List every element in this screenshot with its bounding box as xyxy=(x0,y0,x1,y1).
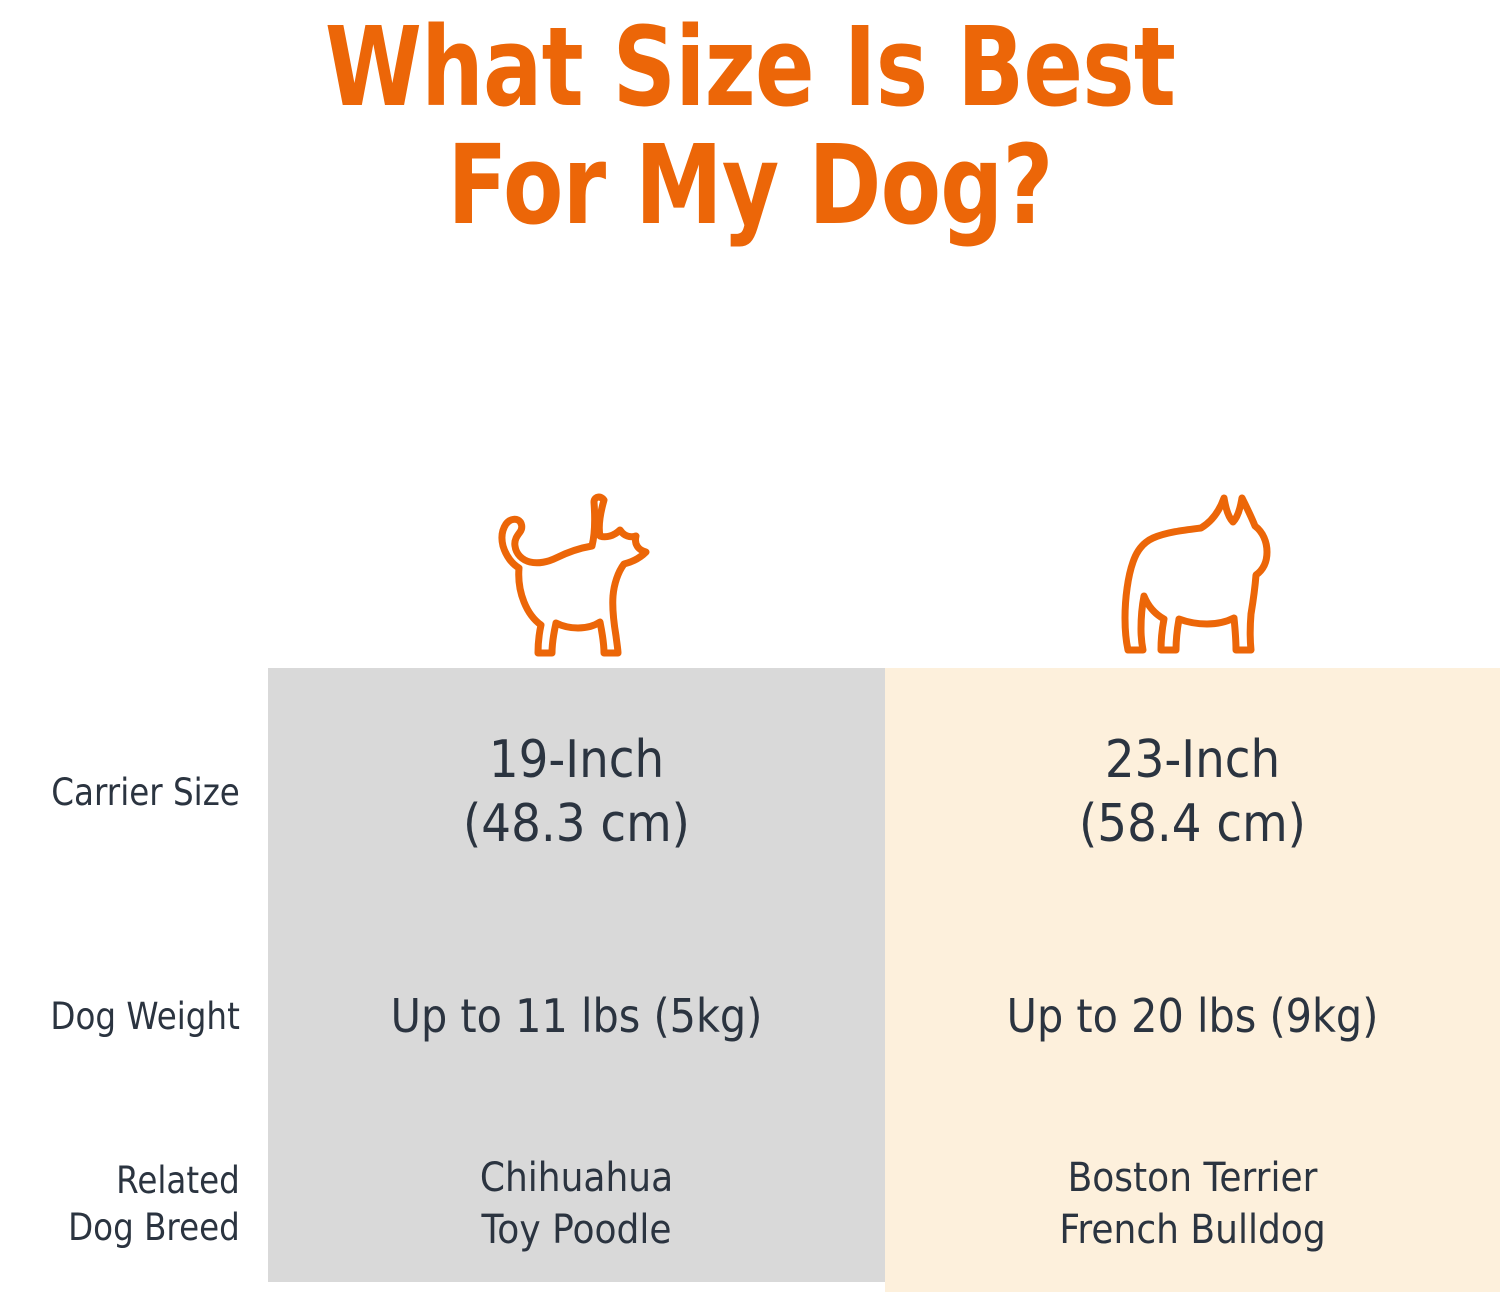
row-label-carrier-size: Carrier Size xyxy=(32,769,268,816)
chihuahua-dog-icon xyxy=(482,492,672,660)
cell-dog-weight-19-inch: Up to 11 lbs (5kg) xyxy=(299,988,854,1044)
french-bulldog-icon xyxy=(1093,492,1293,660)
cell-carrier-size-19-inch: 19-Inch (48.3 cm) xyxy=(299,728,854,856)
dog-icon-row xyxy=(268,470,1500,660)
dog-weight-19-inch-value: Up to 11 lbs (5kg) xyxy=(299,988,854,1044)
breed-23-inch-1: Boston Terrier xyxy=(916,1152,1470,1204)
table-row-carrier-size: Carrier Size 19-Inch (48.3 cm) 23-Inch (… xyxy=(0,668,1500,916)
table-row-related-dog-breed: Related Dog Breed Chihuahua Toy Poodle B… xyxy=(0,1116,1500,1292)
carrier-size-19-inch-imperial: 19-Inch xyxy=(299,728,854,792)
breed-19-inch-1: Chihuahua xyxy=(299,1152,854,1204)
row-label-dog-weight: Dog Weight xyxy=(32,993,268,1040)
page-title: What Size Is Best For My Dog? xyxy=(0,8,1500,244)
row-label-related-dog-breed: Related Dog Breed xyxy=(32,1157,268,1251)
cell-breeds-23-inch: Boston Terrier French Bulldog xyxy=(916,1152,1470,1256)
carrier-size-23-inch-imperial: 23-Inch xyxy=(916,728,1470,792)
cell-breeds-19-inch: Chihuahua Toy Poodle xyxy=(299,1152,854,1256)
row-label-related-line-1: Related xyxy=(32,1157,240,1204)
cell-dog-weight-23-inch: Up to 20 lbs (9kg) xyxy=(916,988,1470,1044)
breed-23-inch-2: French Bulldog xyxy=(916,1204,1470,1256)
table-row-dog-weight: Dog Weight Up to 11 lbs (5kg) Up to 20 l… xyxy=(0,916,1500,1116)
french-bulldog-icon-cell xyxy=(885,470,1500,660)
page-title-line-1: What Size Is Best xyxy=(150,8,1350,126)
chihuahua-icon-cell xyxy=(268,470,885,660)
row-label-related-line-2: Dog Breed xyxy=(32,1204,240,1251)
page-title-line-2: For My Dog? xyxy=(150,126,1350,244)
comparison-table: Carrier Size 19-Inch (48.3 cm) 23-Inch (… xyxy=(0,668,1500,1292)
carrier-size-23-inch-metric: (58.4 cm) xyxy=(916,792,1470,856)
cell-carrier-size-23-inch: 23-Inch (58.4 cm) xyxy=(916,728,1470,856)
dog-weight-23-inch-value: Up to 20 lbs (9kg) xyxy=(916,988,1470,1044)
breed-19-inch-2: Toy Poodle xyxy=(299,1204,854,1256)
carrier-size-19-inch-metric: (48.3 cm) xyxy=(299,792,854,856)
